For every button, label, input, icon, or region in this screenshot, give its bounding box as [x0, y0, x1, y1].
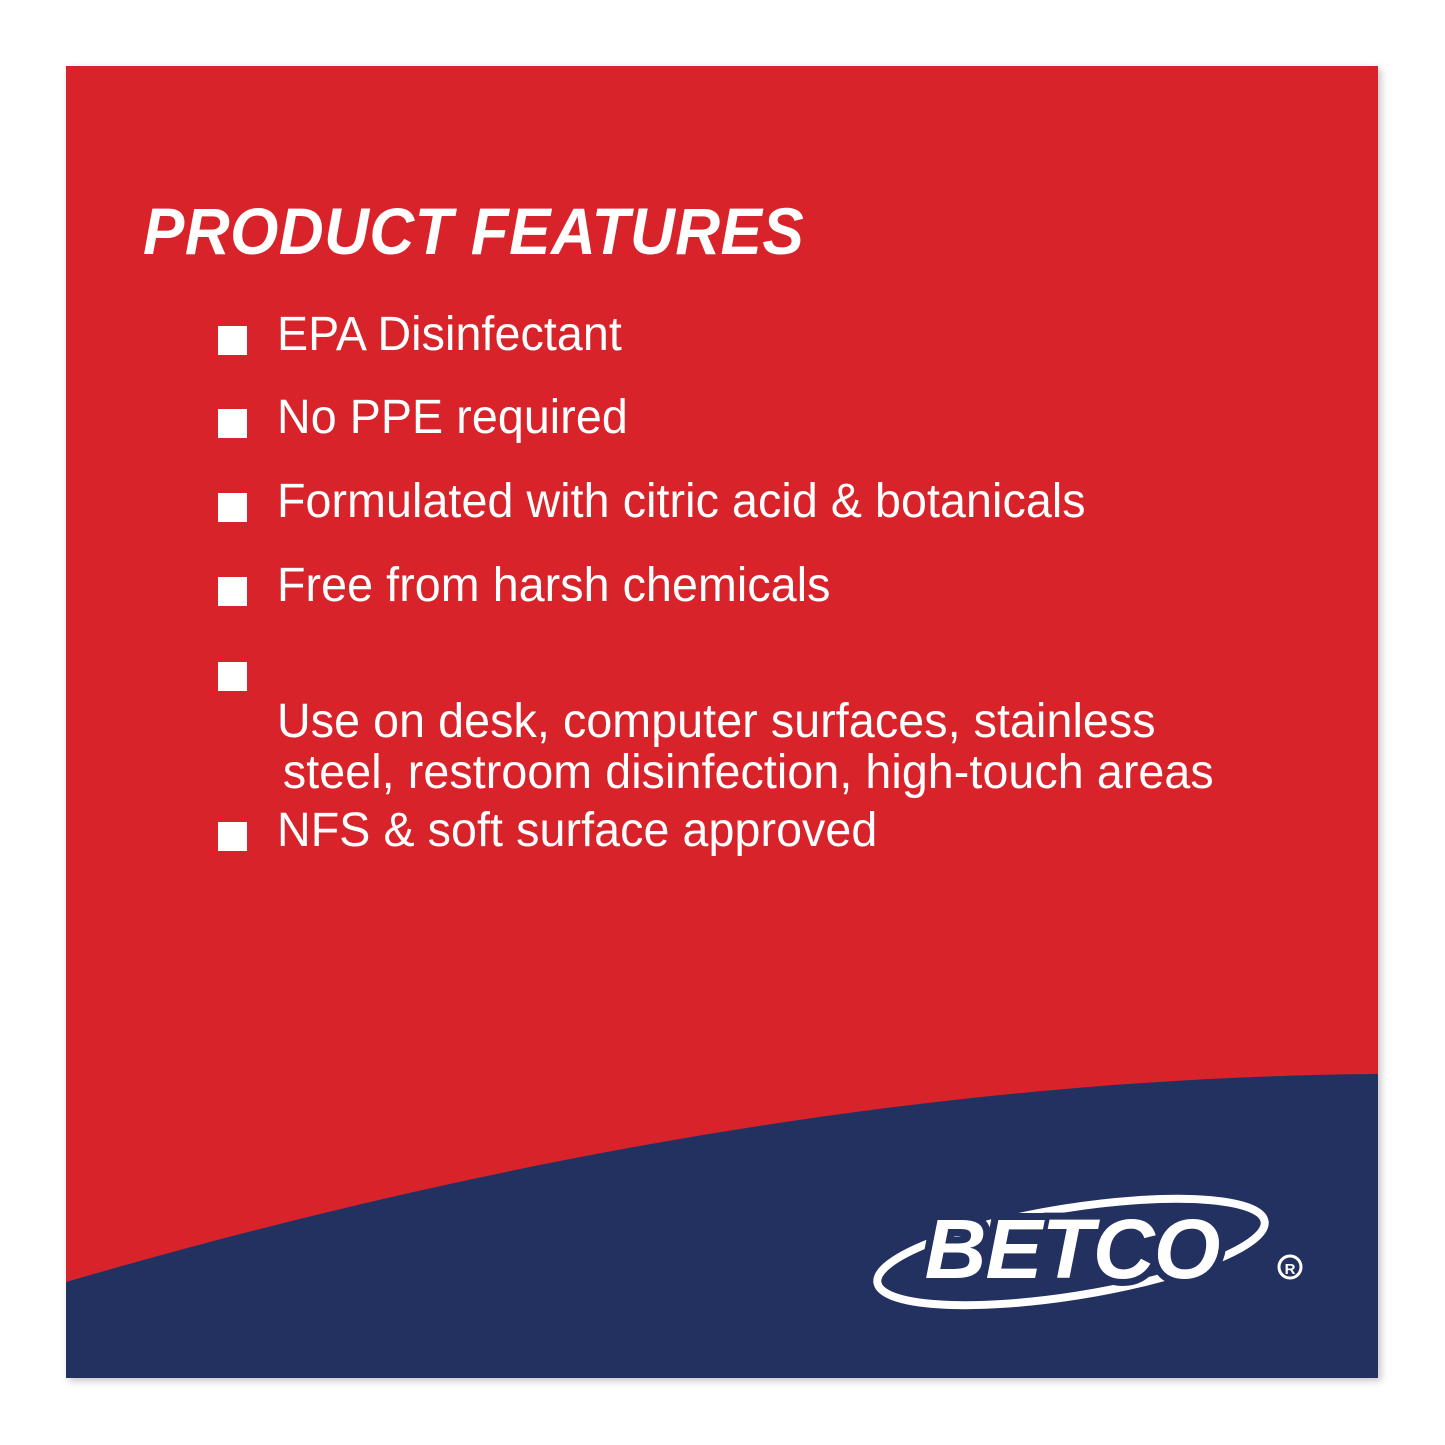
feature-label: Formulated with citric acid & botanicals: [277, 477, 1086, 528]
product-features-card: PRODUCT FEATURES EPA Disinfectant No PPE…: [66, 66, 1378, 1378]
list-item: No PPE required: [218, 393, 639, 444]
svg-text:R: R: [1285, 1261, 1296, 1278]
betco-wordmark: BETCO: [925, 1202, 1220, 1296]
square-bullet-icon: [218, 822, 247, 851]
square-bullet-icon: [218, 662, 247, 691]
square-bullet-icon: [218, 493, 247, 522]
feature-label: NFS & soft surface approved: [277, 806, 877, 857]
screenshot-canvas: PRODUCT FEATURES EPA Disinfectant No PPE…: [0, 0, 1445, 1445]
square-bullet-icon: [218, 409, 247, 438]
feature-label: No PPE required: [277, 393, 628, 444]
feature-label-line-2: steel, restroom disinfection, high-touch…: [277, 748, 1214, 799]
feature-label: EPA Disinfectant: [277, 310, 622, 361]
page-title: PRODUCT FEATURES: [143, 198, 804, 264]
square-bullet-icon: [218, 326, 247, 355]
feature-label-line-1: Use on desk, computer surfaces, stainles…: [277, 695, 1156, 748]
registered-trademark-icon: R: [1279, 1256, 1301, 1278]
list-item: Free from harsh chemicals: [218, 561, 848, 612]
list-item: Formulated with citric acid & botanicals: [218, 477, 1111, 528]
list-item: NFS & soft surface approved: [218, 806, 896, 857]
betco-logo: BETCO R: [866, 1186, 1316, 1316]
list-item: EPA Disinfectant: [218, 310, 633, 361]
feature-label: Free from harsh chemicals: [277, 561, 831, 612]
square-bullet-icon: [218, 577, 247, 606]
betco-logo-artwork: BETCO R: [866, 1186, 1316, 1316]
